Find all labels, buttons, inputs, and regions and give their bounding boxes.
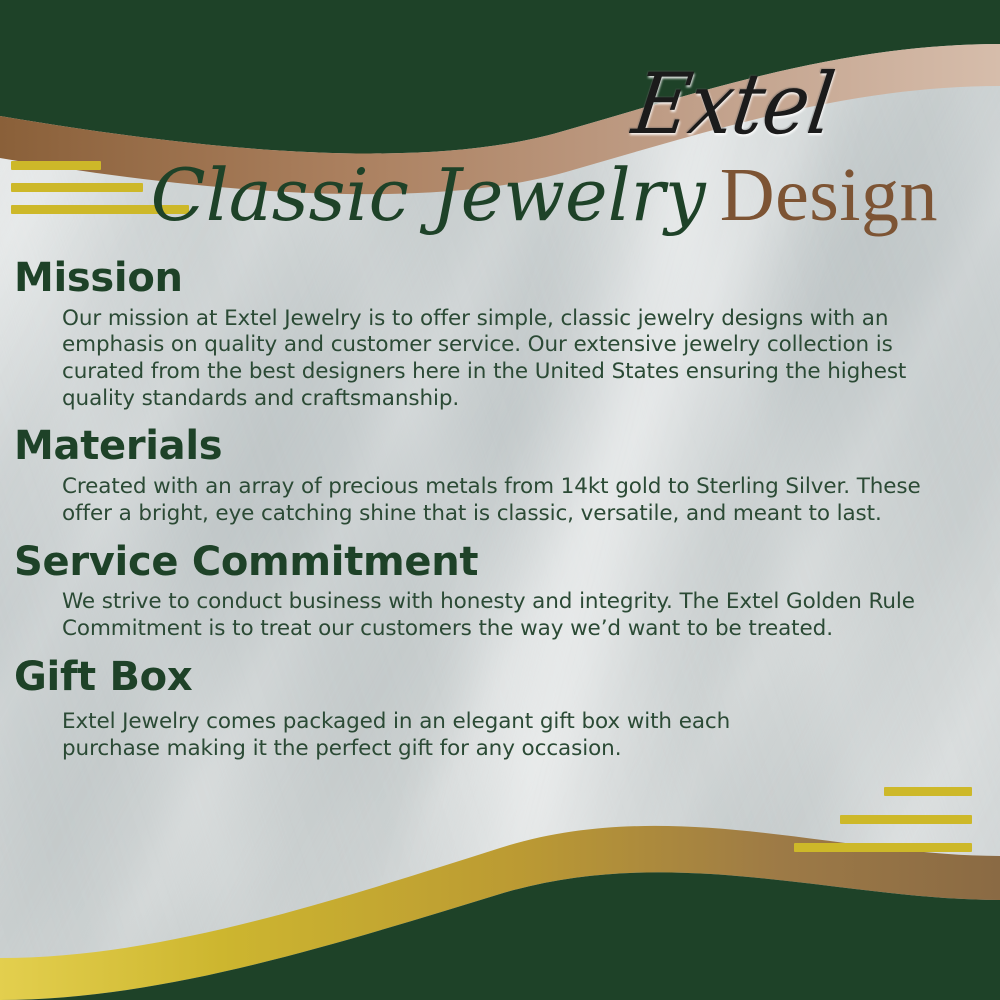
headline-design: Design (720, 153, 938, 237)
gold-rule-1 (884, 787, 972, 796)
section-body-gift-box: Extel Jewelry comes packaged in an elega… (62, 709, 782, 762)
section-service-commitment: Service Commitment We strive to conduct … (14, 540, 986, 643)
section-gift-box: Gift Box Extel Jewelry comes packaged in… (14, 655, 986, 763)
section-title-materials: Materials (14, 424, 986, 469)
content-sections: Mission Our mission at Extel Jewelry is … (14, 256, 986, 769)
section-title-mission: Mission (14, 256, 986, 301)
section-title-gift-box: Gift Box (14, 655, 986, 700)
poster-canvas: Extel Classic JewelryDesign Mission Our … (0, 0, 1000, 1000)
gold-rules-bottom-right (794, 787, 972, 871)
headline-classic-jewelry: Classic Jewelry (151, 153, 706, 237)
section-body-mission: Our mission at Extel Jewelry is to offer… (62, 306, 977, 413)
section-mission: Mission Our mission at Extel Jewelry is … (14, 256, 986, 412)
section-materials: Materials Created with an array of preci… (14, 424, 986, 527)
brand-logo-extel: Extel (628, 63, 838, 147)
poster-headline: Classic JewelryDesign (0, 152, 1000, 239)
gold-rule-2 (840, 815, 972, 824)
section-body-materials: Created with an array of precious metals… (62, 474, 977, 527)
gold-rule-3 (794, 843, 972, 852)
section-body-service-commitment: We strive to conduct business with hones… (62, 589, 977, 642)
section-title-service-commitment: Service Commitment (14, 540, 986, 585)
